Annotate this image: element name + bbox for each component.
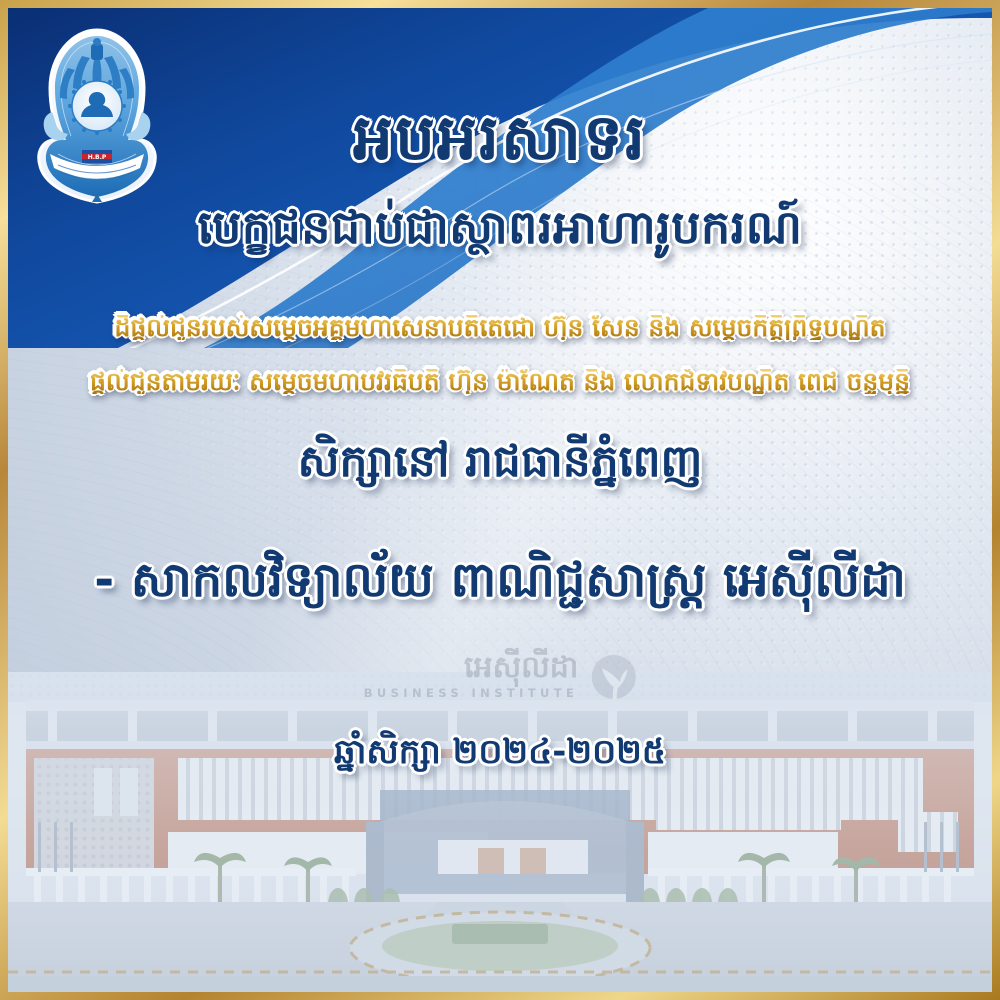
poster-inner: H.B.P អេស៊ីលីដា BUSINESS INSTITUTE [8, 8, 992, 992]
school-name-line: - សាកលវិទ្យាល័យ ពាណិជ្ជសាស្ត្រ អេស៊ីលីដា [8, 556, 992, 604]
subject-line: បេក្ខជនជាប់ជាស្ថាពរអាហារូបករណ៍ [8, 204, 992, 250]
study-location-line: សិក្សានៅ រាជធានីភ្នំពេញ [8, 440, 992, 484]
headline-congratulations: អបអរសាទរ [8, 106, 992, 169]
poster-text-block: អបអរសាទរ បេក្ខជនជាប់ជាស្ថាពរអាហារូបករណ៍ … [8, 8, 992, 992]
donor-line-2: ផ្តល់ជូនតាមរយៈ សម្តេចមហាបវរធិបតី ហ៊ុន ម៉… [8, 369, 992, 394]
donor-line-1: ដឹផ្តល់ជូនរបស់សម្តេចអគ្គមហាសេនាបតីតេជោ ហ… [8, 315, 992, 340]
poster-root: H.B.P អេស៊ីលីដា BUSINESS INSTITUTE [0, 0, 1000, 1000]
academic-year-line: ឆ្នាំសិក្សា ២០២៤-២០២៥ [8, 735, 992, 769]
